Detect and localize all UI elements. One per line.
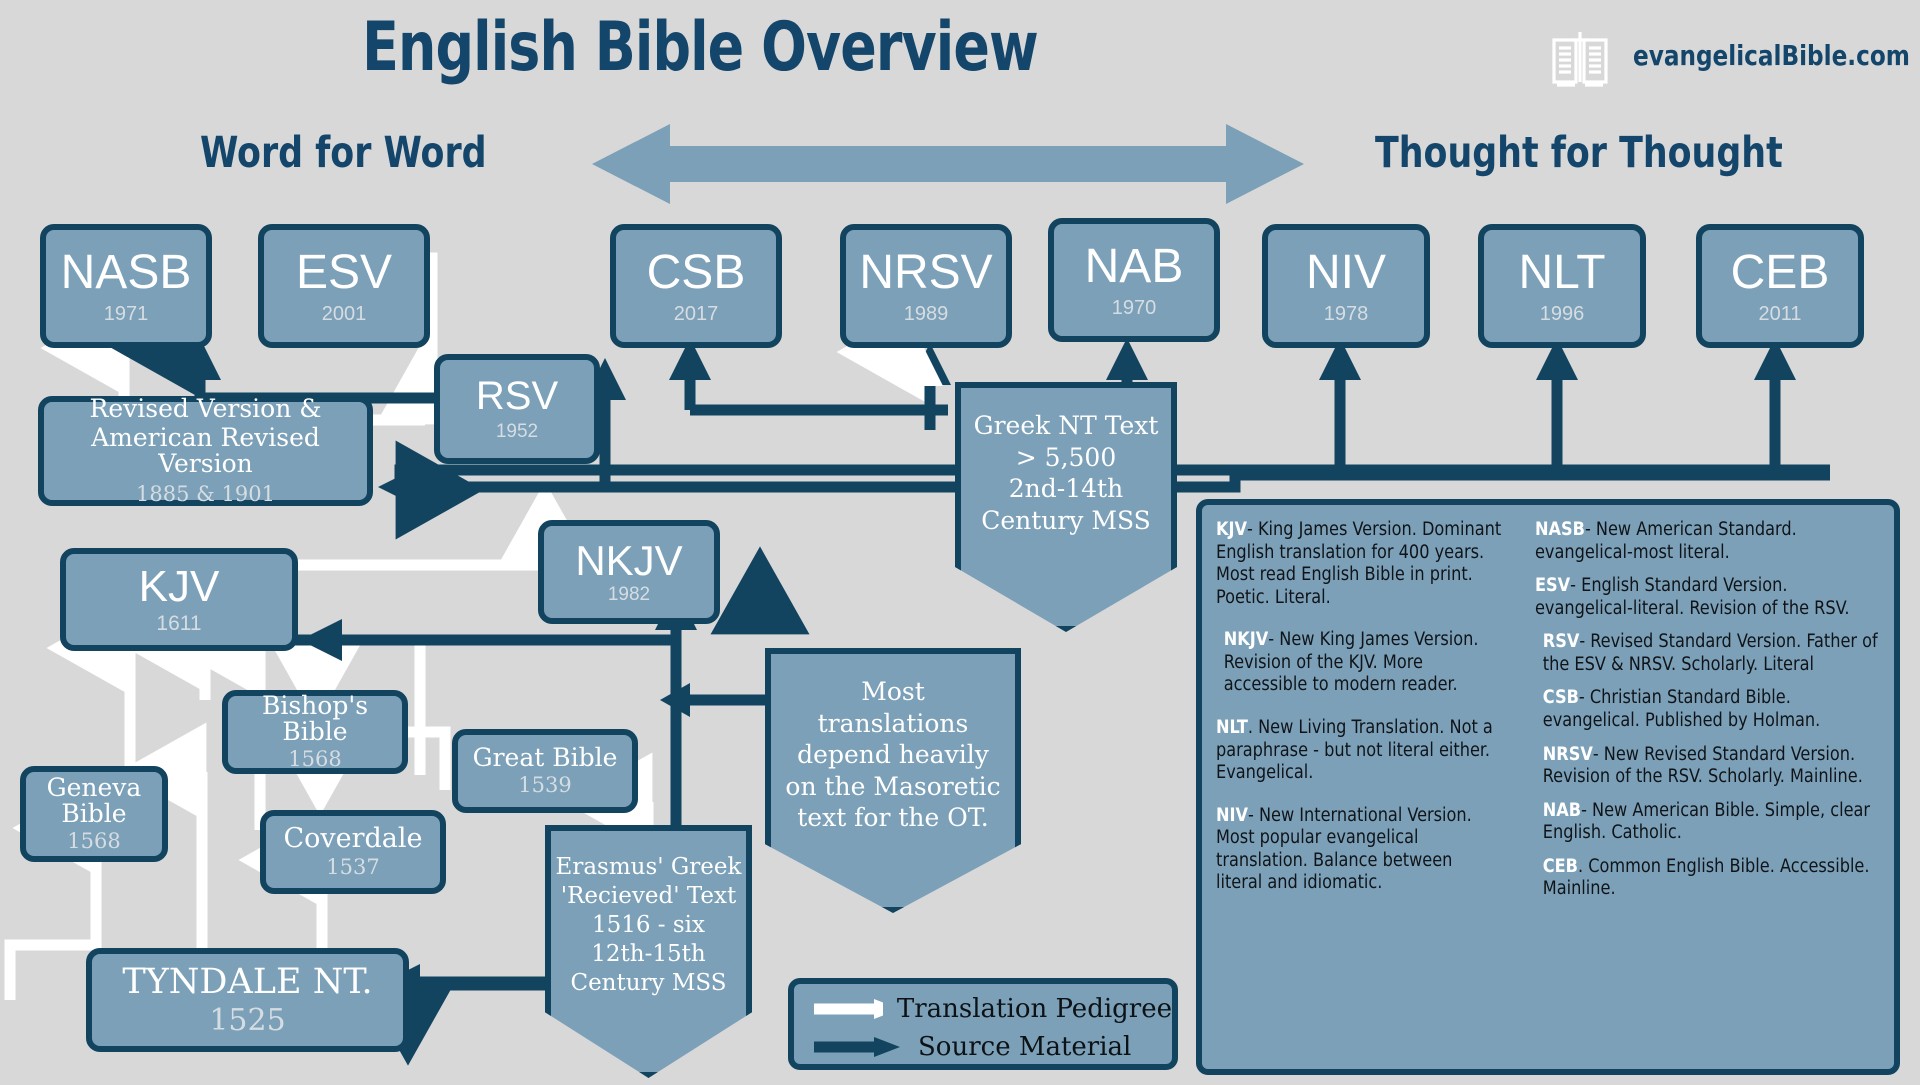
greek-nt-line4: Century MSS bbox=[974, 505, 1159, 537]
historic-box-bishops-bible[interactable]: Bishop's Bible 1568 bbox=[222, 690, 408, 774]
coverdale-year: 1537 bbox=[326, 857, 379, 879]
masoretic-line4: on the Masoretic bbox=[785, 771, 1000, 803]
glossary-abbr: CEB bbox=[1542, 856, 1577, 877]
glossary-description: - Christian Standard Bible. evangelical.… bbox=[1542, 687, 1820, 731]
erasmus-line4: 12th-15th bbox=[556, 940, 742, 969]
banner-masoretic-note: Most translations depend heavily on the … bbox=[765, 648, 1021, 913]
glossary-entry-nlt: NLT. New Living Translation. Not a parap… bbox=[1216, 717, 1502, 785]
glossary-description: - English Standard Version. evangelical-… bbox=[1535, 575, 1850, 619]
glossary-panel: KJV- King James Version. Dominant Englis… bbox=[1196, 499, 1900, 1075]
translation-box-csb[interactable]: CSB 2017 bbox=[610, 224, 782, 348]
historic-box-tyndale-nt[interactable]: TYNDALE NT. 1525 bbox=[86, 948, 409, 1052]
glossary-entry-niv: NIV- New International Version. Most pop… bbox=[1216, 805, 1502, 895]
translation-name: NKJV bbox=[575, 539, 682, 583]
geneva-line1: Geneva bbox=[47, 775, 142, 801]
glossary-abbr: ESV bbox=[1535, 575, 1570, 596]
glossary-description: - King James Version. Dominant English t… bbox=[1216, 519, 1501, 608]
translation-name: RSV bbox=[476, 376, 558, 418]
greek-nt-line1: Greek NT Text bbox=[974, 410, 1159, 442]
revised-version-line2: American Revised Version bbox=[44, 425, 367, 477]
historic-box-great-bible[interactable]: Great Bible 1539 bbox=[452, 729, 638, 813]
translation-box-nasb[interactable]: NASB 1971 bbox=[40, 224, 212, 348]
tyndale-year: 1525 bbox=[209, 1005, 285, 1036]
translation-box-nrsv[interactable]: NRSV 1989 bbox=[840, 224, 1012, 348]
translation-name: NRSV bbox=[859, 248, 992, 298]
translation-name: CEB bbox=[1731, 248, 1830, 298]
translation-name: ESV bbox=[296, 248, 392, 298]
banner-greek-nt-text: Greek NT Text > 5,500 2nd-14th Century M… bbox=[955, 382, 1177, 632]
glossary-description: . New Living Translation. Not a paraphra… bbox=[1216, 717, 1493, 783]
erasmus-line5: Century MSS bbox=[556, 969, 742, 998]
translation-year: 1971 bbox=[104, 304, 149, 325]
glossary-column-left: KJV- King James Version. Dominant Englis… bbox=[1202, 505, 1517, 1069]
legend-row-pedigree: Translation Pedigree bbox=[794, 990, 1172, 1028]
masoretic-line1: Most bbox=[785, 676, 1000, 708]
translation-name: NLT bbox=[1518, 248, 1605, 298]
glossary-entry-nab: NAB- New American Bible. Simple, clear E… bbox=[1535, 800, 1878, 845]
translation-box-rsv[interactable]: RSV 1952 bbox=[434, 354, 600, 464]
translation-box-niv[interactable]: NIV 1978 bbox=[1262, 224, 1430, 348]
great-bible-name: Great Bible bbox=[473, 745, 618, 771]
glossary-abbr: CSB bbox=[1542, 687, 1578, 708]
bishops-year: 1568 bbox=[288, 749, 341, 771]
glossary-abbr: KJV bbox=[1216, 519, 1247, 540]
translation-year: 2001 bbox=[322, 304, 367, 325]
translation-year: 1989 bbox=[904, 304, 949, 325]
glossary-abbr: NLT bbox=[1216, 717, 1248, 738]
erasmus-line3: 1516 - six bbox=[556, 911, 742, 940]
translation-year: 1982 bbox=[608, 585, 650, 605]
legend-row-source: Source Material bbox=[794, 1028, 1172, 1066]
glossary-entry-nasb: NASB- New American Standard. evangelical… bbox=[1535, 519, 1878, 564]
glossary-description: . Common English Bible. Accessible. Main… bbox=[1542, 856, 1869, 900]
translation-box-kjv[interactable]: KJV 1611 bbox=[60, 548, 298, 651]
revised-version-line1: Revised Version & bbox=[90, 396, 322, 422]
translation-box-nab[interactable]: NAB 1970 bbox=[1048, 218, 1220, 342]
greek-nt-line3: 2nd-14th bbox=[974, 473, 1159, 505]
translation-name: NASB bbox=[61, 248, 192, 298]
glossary-description: - New International Version. Most popula… bbox=[1216, 805, 1472, 894]
revised-version-year: 1885 & 1901 bbox=[136, 484, 275, 506]
legend-label-source: Source Material bbox=[918, 1032, 1131, 1062]
translation-name: CSB bbox=[647, 248, 746, 298]
bishops-name: Bishop's Bible bbox=[228, 693, 402, 745]
translation-year: 2017 bbox=[674, 304, 719, 325]
infographic-canvas: English Bible Overview evangelicalBible.… bbox=[0, 0, 1920, 1080]
geneva-line2: Bible bbox=[61, 801, 126, 827]
translation-name: NAB bbox=[1085, 242, 1184, 292]
translation-name: NIV bbox=[1306, 248, 1386, 298]
translation-year: 1978 bbox=[1324, 304, 1369, 325]
historic-box-geneva-bible[interactable]: Geneva Bible 1568 bbox=[20, 766, 168, 862]
translation-box-nlt[interactable]: NLT 1996 bbox=[1478, 224, 1646, 348]
translation-year: 2011 bbox=[1758, 304, 1801, 325]
glossary-entry-nrsv: NRSV- New Revised Standard Version. Revi… bbox=[1535, 744, 1878, 789]
pedigree-arrow-icon bbox=[812, 999, 883, 1019]
glossary-abbr: NKJV bbox=[1224, 629, 1269, 650]
historic-box-coverdale[interactable]: Coverdale 1537 bbox=[260, 810, 446, 894]
glossary-description: - New American Bible. Simple, clear Engl… bbox=[1542, 800, 1869, 844]
great-bible-year: 1539 bbox=[518, 775, 571, 797]
erasmus-line2: 'Recieved' Text bbox=[556, 882, 742, 911]
banner-erasmus-greek-text: Erasmus' Greek 'Recieved' Text 1516 - si… bbox=[545, 825, 752, 1078]
glossary-entry-rsv: RSV- Revised Standard Version. Father of… bbox=[1535, 631, 1878, 676]
glossary-abbr: NAB bbox=[1542, 800, 1580, 821]
source-arrow-icon bbox=[812, 1037, 904, 1057]
masoretic-line2: translations bbox=[785, 708, 1000, 740]
translation-name: KJV bbox=[139, 564, 220, 610]
legend-label-pedigree: Translation Pedigree bbox=[897, 994, 1172, 1024]
translation-box-ceb[interactable]: CEB 2011 bbox=[1696, 224, 1864, 348]
glossary-description: - Revised Standard Version. Father of th… bbox=[1542, 631, 1877, 675]
glossary-entry-nkjv: NKJV- New King James Version. Revision o… bbox=[1216, 629, 1502, 697]
greek-nt-line2: > 5,500 bbox=[974, 442, 1159, 474]
translation-year: 1611 bbox=[156, 613, 201, 635]
translation-year: 1996 bbox=[1540, 304, 1585, 325]
glossary-entry-kjv: KJV- King James Version. Dominant Englis… bbox=[1216, 519, 1502, 609]
geneva-year: 1568 bbox=[67, 831, 120, 853]
glossary-entry-ceb: CEB. Common English Bible. Accessible. M… bbox=[1535, 856, 1878, 901]
glossary-abbr: NASB bbox=[1535, 519, 1585, 540]
glossary-abbr: RSV bbox=[1542, 631, 1579, 652]
masoretic-line5: text for the OT. bbox=[785, 802, 1000, 834]
translation-box-nkjv[interactable]: NKJV 1982 bbox=[538, 520, 720, 624]
coverdale-name: Coverdale bbox=[283, 825, 422, 853]
tyndale-name: TYNDALE NT. bbox=[122, 964, 372, 1000]
glossary-abbr: NRSV bbox=[1542, 744, 1592, 765]
glossary-column-right: NASB- New American Standard. evangelical… bbox=[1517, 505, 1894, 1069]
historic-box-revised-version[interactable]: Revised Version & American Revised Versi… bbox=[38, 396, 373, 506]
glossary-abbr: NIV bbox=[1216, 805, 1248, 826]
glossary-entry-csb: CSB- Christian Standard Bible. evangelic… bbox=[1535, 687, 1878, 732]
translation-year: 1952 bbox=[496, 422, 538, 442]
erasmus-line1: Erasmus' Greek bbox=[556, 853, 742, 882]
glossary-entry-esv: ESV- English Standard Version. evangelic… bbox=[1535, 575, 1878, 620]
masoretic-line3: depend heavily bbox=[785, 739, 1000, 771]
legend-panel: Translation Pedigree Source Material bbox=[788, 978, 1178, 1070]
translation-year: 1970 bbox=[1112, 298, 1157, 319]
translation-box-esv[interactable]: ESV 2001 bbox=[258, 224, 430, 348]
